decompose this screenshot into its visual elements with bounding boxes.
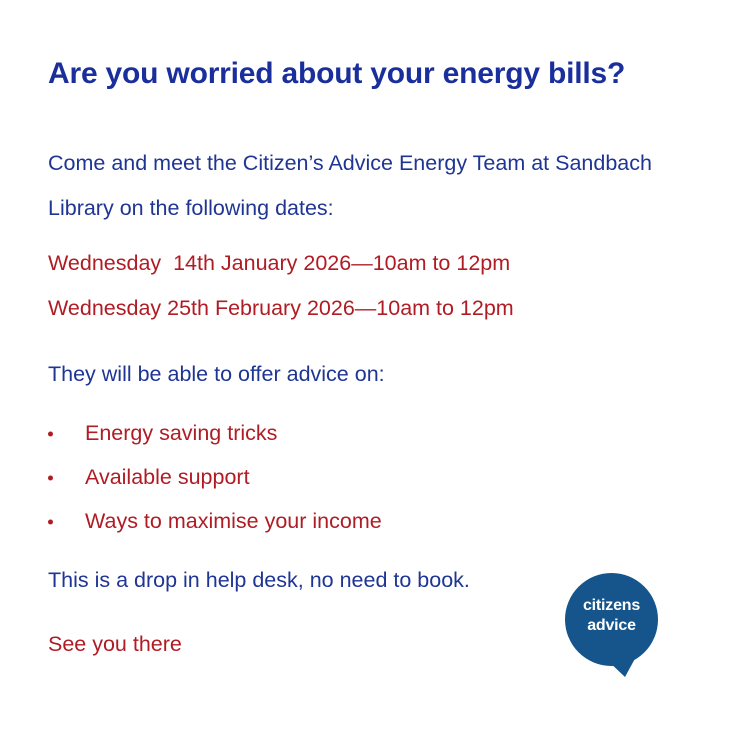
- list-item-label: Energy saving tricks: [85, 423, 277, 445]
- list-item-label: Available support: [85, 467, 250, 489]
- citizens-advice-logo: citizens advice: [565, 573, 658, 678]
- drop-in-note: This is a drop in help desk, no need to …: [48, 558, 470, 603]
- logo-line-citizens: citizens: [565, 596, 658, 616]
- session-date-1: Wednesday 14th January 2026—10am to 12pm: [48, 241, 510, 286]
- advice-list: Energy saving tricks Available support W…: [48, 412, 382, 544]
- logo-line-advice: advice: [565, 616, 658, 636]
- list-item: Ways to maximise your income: [48, 500, 382, 544]
- sign-off-text: See you there: [48, 622, 182, 667]
- advice-intro-text: They will be able to offer advice on:: [48, 352, 385, 397]
- session-date-2: Wednesday 25th February 2026—10am to 12p…: [48, 286, 514, 331]
- list-item: Available support: [48, 456, 382, 500]
- logo-wordmark: citizens advice: [565, 596, 658, 636]
- list-item: Energy saving tricks: [48, 412, 382, 456]
- bullet-dot-icon: [48, 476, 53, 481]
- bullet-dot-icon: [48, 432, 53, 437]
- intro-paragraph: Come and meet the Citizen’s Advice Energ…: [48, 141, 708, 231]
- poster-canvas: Are you worried about your energy bills?…: [0, 0, 750, 750]
- list-item-label: Ways to maximise your income: [85, 511, 382, 533]
- page-title: Are you worried about your energy bills?: [48, 57, 625, 91]
- bullet-dot-icon: [48, 520, 53, 525]
